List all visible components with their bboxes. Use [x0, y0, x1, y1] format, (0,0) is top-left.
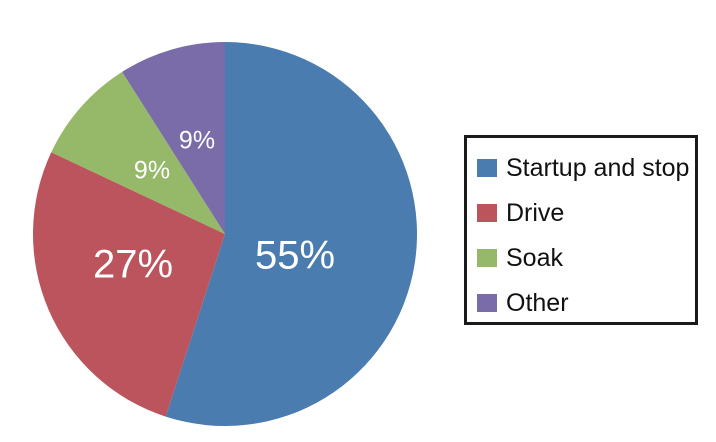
legend-label-drive: Drive — [506, 201, 564, 226]
pie-svg: 55%27%9%9% — [0, 0, 450, 442]
legend-item-soak[interactable]: Soak — [477, 243, 563, 273]
pie-slices-group — [33, 42, 417, 426]
legend-swatch-drive — [477, 204, 497, 222]
legend-swatch-startup-and-stop — [477, 159, 497, 177]
legend-label-other: Other — [506, 291, 569, 316]
pie-slice-value-label: 9% — [134, 157, 170, 185]
legend-item-startup-and-stop[interactable]: Startup and stop — [477, 153, 689, 183]
pie-plot-area: 55%27%9%9% — [0, 0, 450, 442]
pie-slice-value-label: 27% — [93, 243, 173, 287]
pie-slice-value-label: 9% — [179, 127, 215, 155]
legend-label-startup-and-stop: Startup and stop — [506, 156, 689, 181]
legend-item-other[interactable]: Other — [477, 288, 569, 318]
pie-chart-figure: 55%27%9%9% Startup and stop Drive Soak O… — [0, 0, 716, 442]
pie-slice-value-label: 55% — [255, 234, 335, 278]
legend-swatch-other — [477, 294, 497, 312]
legend-label-soak: Soak — [506, 246, 563, 271]
legend-item-drive[interactable]: Drive — [477, 198, 564, 228]
chart-legend: Startup and stop Drive Soak Other — [464, 135, 698, 325]
legend-swatch-soak — [477, 249, 497, 267]
